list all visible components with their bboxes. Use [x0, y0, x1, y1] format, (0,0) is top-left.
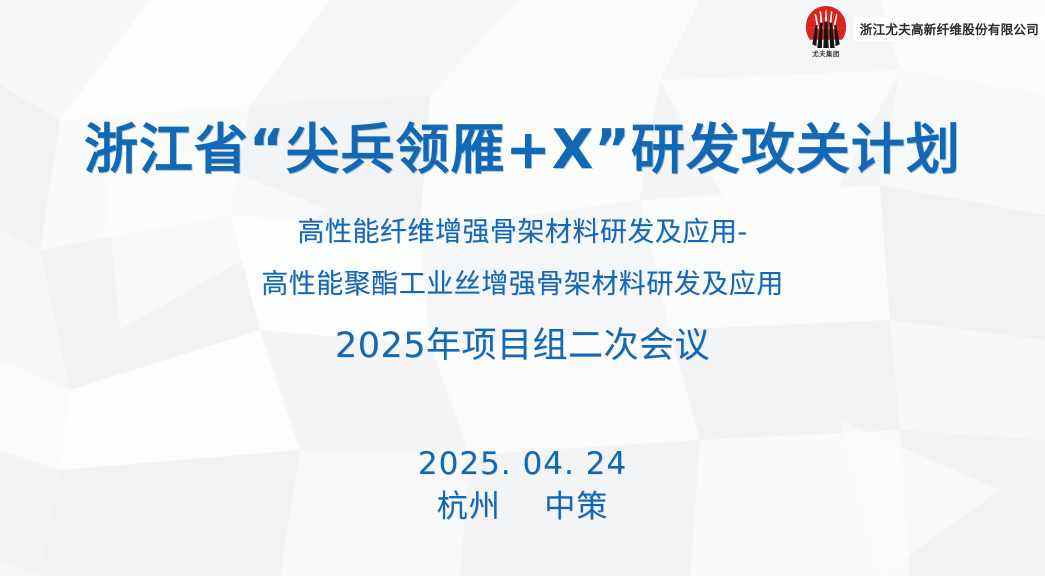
group-logo-text: 尤夫集团	[813, 49, 841, 58]
logo-lockup: 尤夫集团 浙江尤夫高新纤维股份有限公司	[795, 0, 1045, 72]
group-logo: 尤夫集团	[803, 6, 850, 59]
title-slide: 尤夫集团 浙江尤夫高新纤维股份有限公司 浙江省“尖兵领雁+X”研发攻关计划 高性…	[0, 0, 1045, 576]
background-polygon-pattern	[0, 0, 1045, 576]
company-name: 浙江尤夫高新纤维股份有限公司	[860, 19, 1039, 38]
sunburst-logo-icon	[803, 6, 849, 48]
company-name-plate: 浙江尤夫高新纤维股份有限公司	[854, 17, 1045, 41]
